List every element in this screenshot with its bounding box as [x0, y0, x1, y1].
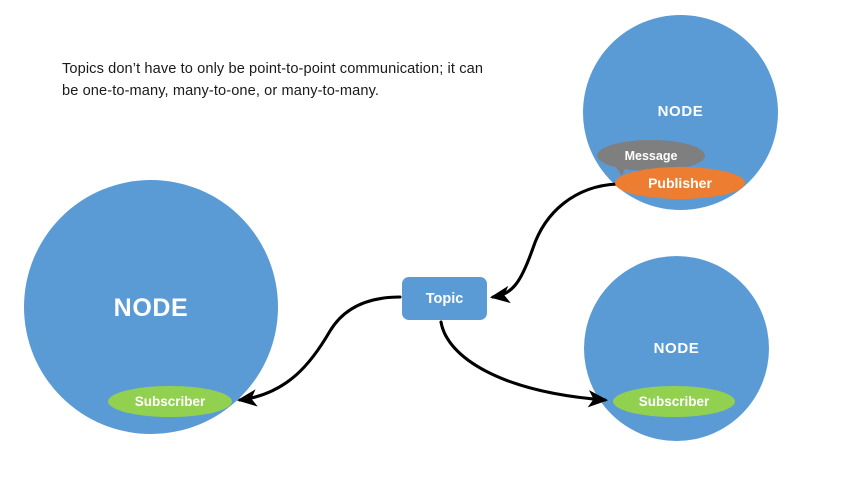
diagram-canvas: Topics don’t have to only be point-to-po…	[0, 0, 854, 480]
node-left-label: NODE	[24, 294, 278, 323]
arrow-publisher-to-topic	[493, 184, 617, 297]
topic-label: Topic	[426, 291, 464, 307]
message-label: Message	[625, 149, 678, 163]
subscriber-bottom-right-label: Subscriber	[639, 394, 710, 409]
publisher-ellipse[interactable]: Publisher	[615, 167, 745, 199]
node-bottom-right-label: NODE	[584, 340, 769, 357]
subscriber-ellipse-bottom-right[interactable]: Subscriber	[613, 386, 735, 417]
arrow-topic-to-subscriber-bottom-right	[441, 322, 605, 400]
subscriber-left-label: Subscriber	[135, 394, 206, 409]
node-top-right-label: NODE	[583, 103, 778, 120]
subscriber-ellipse-left[interactable]: Subscriber	[108, 386, 232, 417]
topic-box[interactable]: Topic	[402, 277, 487, 320]
caption-text: Topics don’t have to only be point-to-po…	[62, 58, 492, 102]
publisher-label: Publisher	[648, 175, 712, 191]
